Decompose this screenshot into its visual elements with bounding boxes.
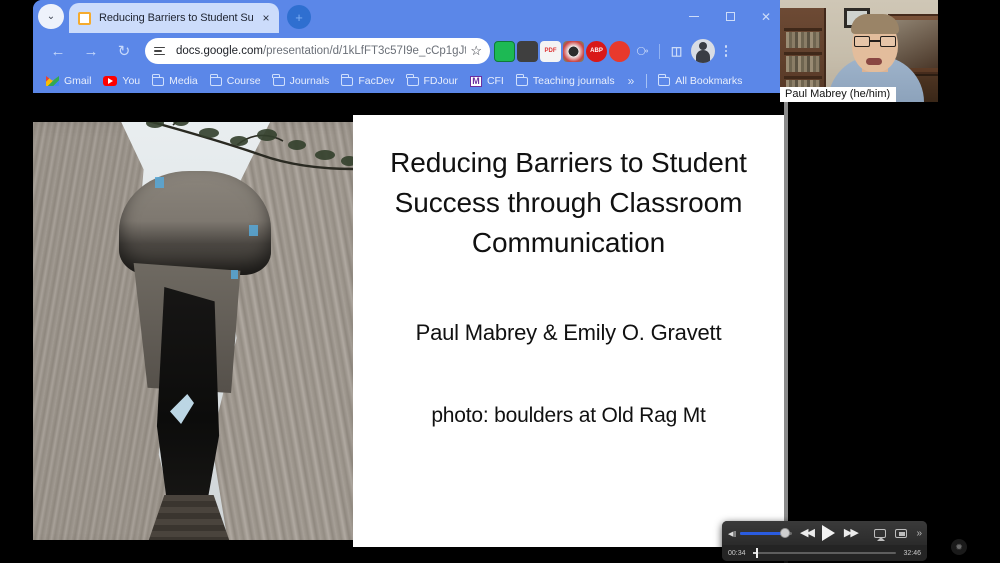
- slide-text-block: Reducing Barriers to Student Success thr…: [353, 115, 788, 547]
- folder-icon: [341, 77, 353, 86]
- tab-reducing-barriers[interactable]: Reducing Barriers to Student Su ×: [69, 3, 279, 33]
- address-bar-url: docs.google.com/presentation/d/1kLfFT3c5…: [176, 45, 466, 57]
- screen-recording-frame: ⌄ Reducing Barriers to Student Su × + ✕: [0, 0, 1000, 563]
- url-path: /presentation/d/1kLfFT3c57I9e_cCp1gJt...: [263, 45, 466, 57]
- maximize-button[interactable]: [712, 0, 748, 33]
- volume-slider[interactable]: [740, 532, 792, 535]
- current-time-label: 00:34: [728, 550, 746, 557]
- page-scrollbar[interactable]: [784, 93, 788, 563]
- fast-forward-button[interactable]: ▶▶: [844, 528, 857, 539]
- volume-slider-handle[interactable]: [780, 528, 790, 538]
- slide-title: Reducing Barriers to Student Success thr…: [374, 143, 764, 262]
- reload-button[interactable]: ↻: [109, 36, 139, 66]
- slides-favicon: [78, 12, 91, 25]
- slide-canvas[interactable]: Reducing Barriers to Student Success thr…: [33, 115, 788, 547]
- bookmark-journals[interactable]: Journals: [268, 72, 335, 91]
- plus-icon: +: [295, 11, 303, 24]
- tree-branch-icon: [111, 115, 353, 179]
- bookmark-you[interactable]: You: [98, 72, 145, 91]
- three-dot-menu-icon[interactable]: [717, 38, 735, 64]
- participant-hair: [851, 14, 899, 34]
- page-scrollbar-thumb[interactable]: [784, 93, 788, 523]
- bookmark-label: Gmail: [64, 75, 91, 87]
- player-right-controls: »: [874, 521, 922, 545]
- youtube-icon: [103, 76, 117, 86]
- airplay-icon[interactable]: [874, 529, 886, 538]
- slide-photo-credit: photo: boulders at Old Rag Mt: [431, 404, 705, 428]
- url-domain: docs.google.com: [176, 45, 263, 57]
- reload-icon: ↻: [118, 42, 131, 60]
- bookmark-media[interactable]: Media: [147, 72, 203, 91]
- extensions-row: PDF ABP ⧂ ◫: [494, 41, 687, 62]
- screencast-extension-icon[interactable]: [517, 41, 538, 62]
- browser-window: ⌄ Reducing Barriers to Student Su × + ✕: [33, 0, 788, 93]
- participant-mouth: [866, 58, 882, 65]
- bookmark-label: Media: [169, 75, 198, 87]
- close-icon[interactable]: ×: [259, 12, 273, 24]
- folder-icon: [516, 77, 528, 86]
- site-settings-icon[interactable]: [154, 45, 169, 58]
- window-controls: ✕: [676, 0, 784, 33]
- picture-in-picture-icon[interactable]: [895, 529, 907, 538]
- player-top-row: ◂ı ◀◀ ▶▶ »: [722, 521, 927, 545]
- eyeglasses-icon: [854, 36, 896, 47]
- video-player-controls[interactable]: ◂ı ◀◀ ▶▶ » 00:34 32:46: [722, 521, 927, 561]
- mendeley-icon: M: [470, 76, 482, 87]
- folder-icon: [152, 77, 164, 86]
- pdf-extension-icon[interactable]: PDF: [540, 41, 561, 62]
- forward-button[interactable]: →: [76, 36, 106, 66]
- close-icon: ✕: [761, 10, 771, 24]
- folder-icon: [273, 77, 285, 86]
- more-options-icon[interactable]: »: [916, 528, 922, 539]
- toolbar-divider: [659, 44, 660, 59]
- seek-bar[interactable]: [753, 552, 897, 554]
- bookmark-label: Course: [227, 75, 261, 87]
- chevron-down-icon: ⌄: [47, 11, 55, 22]
- bookmark-course[interactable]: Course: [205, 72, 266, 91]
- tab-search-icon[interactable]: ⌄: [38, 4, 64, 29]
- browser-toolbar: ← → ↻ docs.google.com/presentation/d/1kL…: [33, 33, 788, 69]
- back-button[interactable]: ←: [43, 36, 73, 66]
- all-bookmarks-button[interactable]: All Bookmarks: [653, 72, 747, 91]
- bookmark-teaching-journals[interactable]: Teaching journals: [511, 72, 620, 91]
- all-bookmarks-label: All Bookmarks: [675, 75, 742, 87]
- bookmark-label: You: [122, 75, 140, 87]
- profile-avatar[interactable]: [691, 39, 715, 63]
- bookmark-label: Teaching journals: [533, 75, 615, 87]
- arrow-right-icon: →: [84, 43, 99, 60]
- camera-extension-icon[interactable]: [563, 41, 584, 62]
- bookmark-label: Journals: [290, 75, 330, 87]
- bookmark-fdjour[interactable]: FDJour: [402, 72, 463, 91]
- bookmarks-divider: [646, 74, 647, 88]
- tab-title: Reducing Barriers to Student Su: [99, 12, 259, 24]
- close-window-button[interactable]: ✕: [748, 0, 784, 33]
- folder-icon: [407, 77, 419, 86]
- bookmark-label: FDJour: [424, 75, 458, 87]
- participant-name-label: Paul Mabrey (he/him): [780, 87, 896, 102]
- seek-bar-handle[interactable]: [756, 548, 758, 558]
- bookmark-label: FacDev: [358, 75, 394, 87]
- fullscreen-toggle-icon[interactable]: ✹: [951, 539, 967, 555]
- bookmark-label: CFI: [487, 75, 504, 87]
- minimize-button[interactable]: [676, 0, 712, 33]
- bookmark-cfi[interactable]: M CFI: [465, 72, 509, 91]
- arrow-left-icon: ←: [51, 43, 66, 60]
- tab-strip: ⌄ Reducing Barriers to Student Su × + ✕: [33, 0, 788, 33]
- bookmark-facdev[interactable]: FacDev: [336, 72, 399, 91]
- presentation-viewport: Reducing Barriers to Student Success thr…: [33, 93, 788, 563]
- player-bottom-row: 00:34 32:46: [722, 545, 927, 561]
- rewind-button[interactable]: ◀◀: [800, 528, 813, 539]
- opera-extension-icon[interactable]: [609, 41, 630, 62]
- total-time-label: 32:46: [903, 550, 921, 557]
- slide-authors: Paul Mabrey & Emily O. Gravett: [416, 320, 722, 346]
- adblock-plus-extension-icon[interactable]: ABP: [586, 41, 607, 62]
- gmail-icon: [46, 76, 59, 86]
- webcam-video-overlay[interactable]: Paul Mabrey (he/him): [780, 0, 960, 102]
- volume-icon[interactable]: ◂ı: [728, 527, 737, 540]
- new-tab-button[interactable]: +: [287, 5, 311, 29]
- folder-icon: [658, 77, 670, 86]
- boulders-photo: [33, 115, 353, 547]
- play-button[interactable]: [822, 525, 835, 541]
- grammarly-extension-icon[interactable]: [494, 41, 515, 62]
- folder-icon: [210, 77, 222, 86]
- side-panel-icon[interactable]: ◫: [666, 41, 687, 62]
- address-bar[interactable]: docs.google.com/presentation/d/1kLfFT3c5…: [145, 38, 490, 64]
- bookmarks-bar: Gmail You Media Course Journals FacDev: [33, 69, 788, 93]
- transport-controls: ◀◀ ▶▶: [800, 521, 857, 545]
- bookmark-star-icon[interactable]: ☆: [466, 43, 482, 59]
- webcam-letterbox: [938, 0, 960, 102]
- bookmarks-overflow-icon[interactable]: »: [622, 74, 641, 88]
- extensions-puzzle-icon[interactable]: ⧂: [632, 41, 653, 62]
- bookmark-gmail[interactable]: Gmail: [41, 72, 96, 91]
